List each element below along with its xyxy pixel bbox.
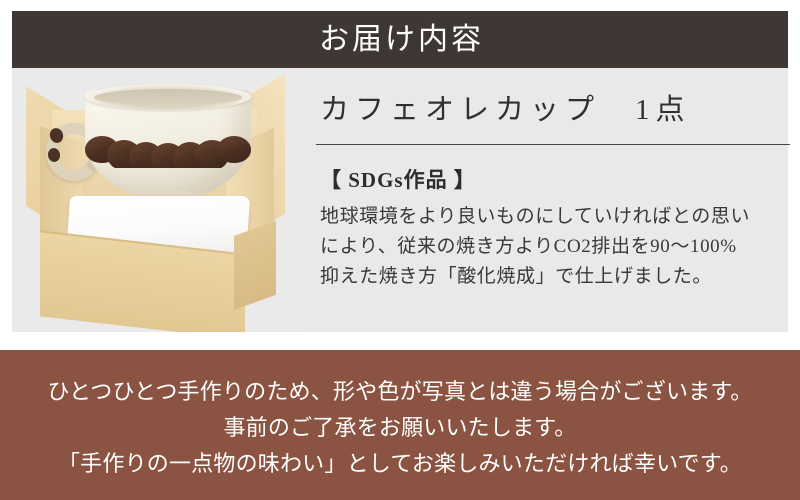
title-divider [316,144,790,145]
product-photo [12,68,302,332]
product-text-column: カフェオレカップ 1点 【 SDGs作品 】 地球環境をより良いものにしていけれ… [302,68,800,332]
page-title: お届け内容 [316,25,484,55]
photo-stage [12,68,302,332]
cup-pattern-band [85,134,251,168]
header-bar: お届け内容 [12,11,788,68]
product-title: カフェオレカップ 1点 [316,92,792,128]
sdgs-description: 地球環境をより良いものにしていければとの思い により、従来の焼き方よりCO2排出… [316,202,792,292]
box-front-right-icon [234,221,276,310]
notice-line: ひとつひとつ手作りのため、形や色が写真とは違う場合がございます。 [47,374,752,410]
content-panel: カフェオレカップ 1点 【 SDGs作品 】 地球環境をより良いものにしていけれ… [12,68,788,332]
sdgs-description-line: 抑えた焼き方「酸化焼成」で仕上げました。 [320,262,792,292]
cup-rim-inner-icon [94,89,242,106]
sdgs-description-line: 地球環境をより良いものにしていければとの思い [320,202,792,232]
product-info-card: お届け内容 [0,0,800,500]
notice-line: 「手作りの一点物の味わい」としてお楽しみいただければ幸いです。 [58,446,742,482]
sdgs-description-line: により、従来の焼き方よりCO2排出を90〜100% [320,232,792,262]
handmade-notice-banner: ひとつひとつ手作りのため、形や色が写真とは違う場合がございます。 事前のご了承を… [0,350,800,500]
cup-pattern-petal [217,136,251,163]
notice-line: 事前のご了承をお願いいたします。 [223,410,576,446]
sdgs-heading: 【 SDGs作品 】 [316,164,792,194]
